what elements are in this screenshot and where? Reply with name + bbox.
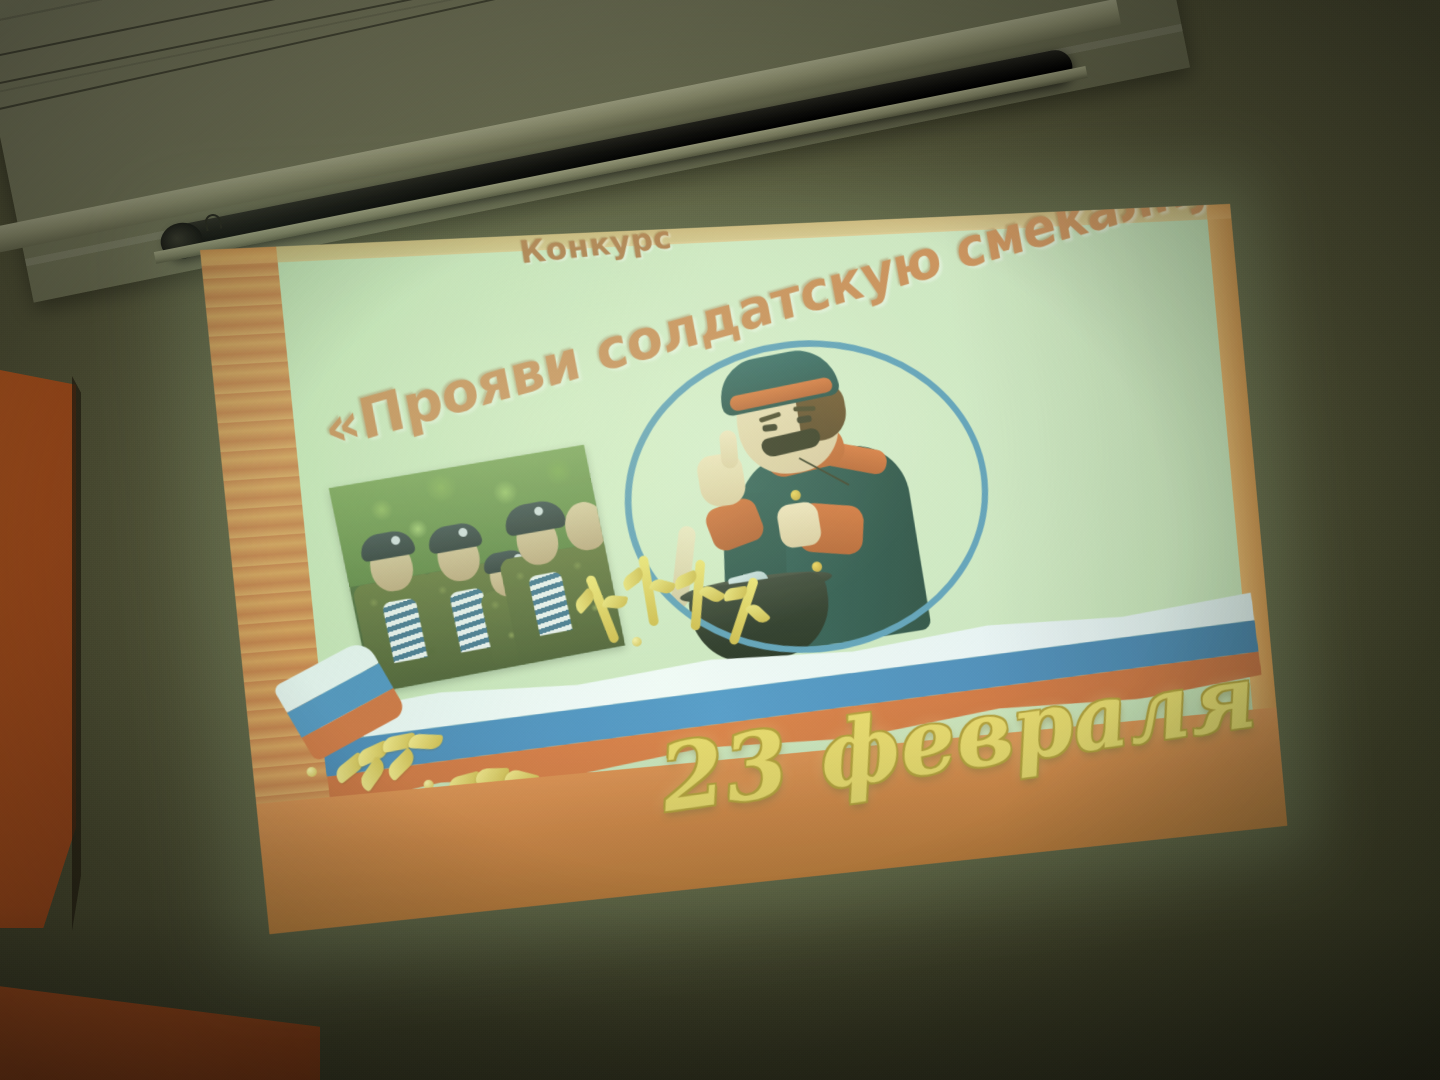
projected-slide[interactable]: Конкурс «Прояви солдатскую смекалку»	[200, 204, 1287, 934]
wheat-ear	[690, 559, 705, 630]
berry-dot	[306, 767, 317, 778]
projected-slide-photo-scene: Конкурс «Прояви солдатскую смекалку»	[0, 0, 1440, 1080]
berry-dot	[632, 637, 643, 647]
projection-area: Конкурс «Прояви солдатскую смекалку»	[0, 0, 1440, 1080]
slide-eyebrow: Конкурс	[517, 219, 674, 271]
wheat-ear	[728, 576, 759, 645]
slide-canvas: Конкурс «Прояви солдатскую смекалку»	[200, 204, 1287, 934]
